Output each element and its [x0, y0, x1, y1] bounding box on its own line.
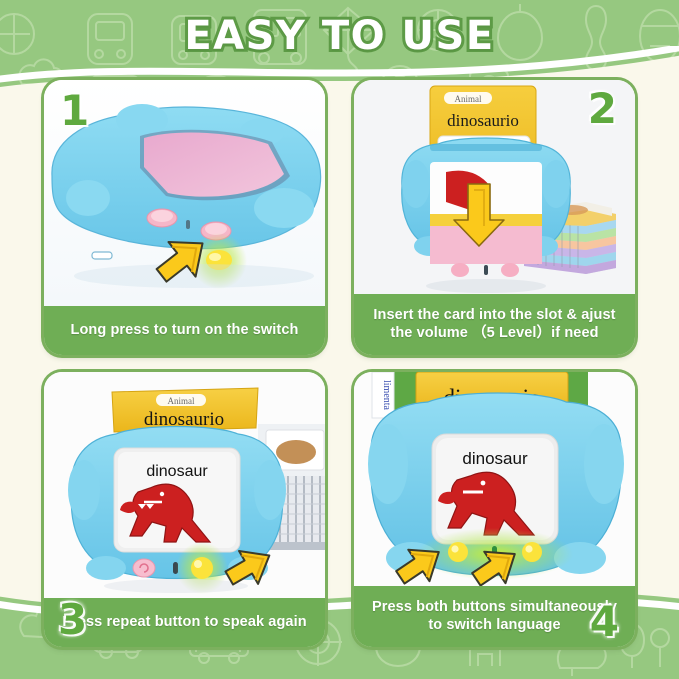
steps-grid: 1 Long press to turn on the switch [44, 80, 635, 647]
step-caption-4-line-1: Press both buttons simultaneously [372, 599, 617, 615]
repeat-button-illustration: Animal dinosaurio dinosaur [44, 372, 325, 598]
step-4-photo: limenta dinosaurio dinosaur [354, 372, 635, 586]
card-category-label: Animal [168, 396, 195, 406]
page-title: EASY TO USE [184, 13, 494, 59]
step-caption-2-line-2: the volume （5 Level）if need [390, 325, 598, 341]
title-container: EASY TO USE [0, 13, 679, 59]
vertical-card-text: limenta [381, 380, 392, 411]
step-caption-2: Insert the card into the slot & ajust th… [354, 294, 635, 355]
two-buttons-illustration: limenta dinosaurio dinosaur [354, 372, 635, 586]
step-caption-1: Long press to turn on the switch [44, 306, 325, 355]
step-panel-1[interactable]: 1 Long press to turn on the switch [44, 80, 325, 355]
step-caption-4-line-2: to switch language [428, 617, 560, 633]
card-word-spanish: dinosaurio [447, 111, 519, 130]
step-number-3: 3 [58, 599, 87, 641]
card-category-label: Animal [455, 94, 482, 104]
step-number-4: 4 [590, 601, 619, 643]
step-panel-4[interactable]: limenta dinosaurio dinosaur [354, 372, 635, 647]
step-number-1: 1 [60, 90, 89, 132]
infographic-root: EASY TO USE [0, 0, 679, 679]
step-number-2: 2 [588, 88, 617, 130]
step-3-photo: Animal dinosaurio dinosaur [44, 372, 325, 598]
screen-word-english: dinosaur [146, 463, 208, 480]
screen-word-english: dinosaur [462, 449, 528, 468]
flash-card: Animal dinosaurio [112, 388, 258, 432]
step-panel-3[interactable]: Animal dinosaurio dinosaur [44, 372, 325, 647]
step-panel-2[interactable]: Animal dinosaurio dinosaur [354, 80, 635, 355]
step-caption-2-line-1: Insert the card into the slot & ajust [373, 307, 615, 323]
